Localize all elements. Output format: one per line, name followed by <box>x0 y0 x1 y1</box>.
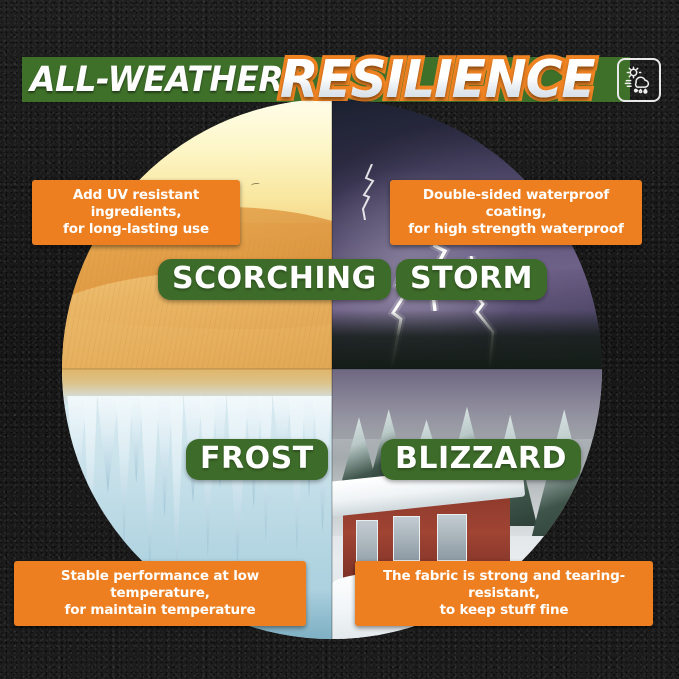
caption-banner-scorching: Add UV resistant ingredients, for long-l… <box>32 180 240 245</box>
quadrant-label-blizzard: BLIZZARD <box>381 439 581 480</box>
header: ALL-WEATHER RESILIENCE RESILIENCE <box>0 26 679 92</box>
page-title-secondary: RESILIENCE <box>280 50 594 110</box>
quadrant-label-storm: STORM <box>396 259 547 300</box>
caption-banner-storm: Double-sided waterproof coating, for hig… <box>390 180 642 245</box>
page-title-primary: ALL-WEATHER <box>30 60 283 100</box>
lightning-bolt-icon <box>354 164 394 220</box>
cabin-window <box>393 516 420 561</box>
cabin-window <box>437 514 467 562</box>
quadrant-label-frost: FROST <box>186 439 328 480</box>
storm-treeline <box>332 310 602 369</box>
caption-banner-blizzard: The fabric is strong and tearing-resista… <box>355 561 653 626</box>
quadrant-label-scorching: SCORCHING <box>158 259 391 300</box>
mixed-weather-icon <box>617 58 661 102</box>
caption-banner-frost: Stable performance at low temperature, f… <box>14 561 306 626</box>
mixed-weather-icon-glyph <box>623 64 655 96</box>
quadrant-divider-horizontal <box>62 368 602 370</box>
